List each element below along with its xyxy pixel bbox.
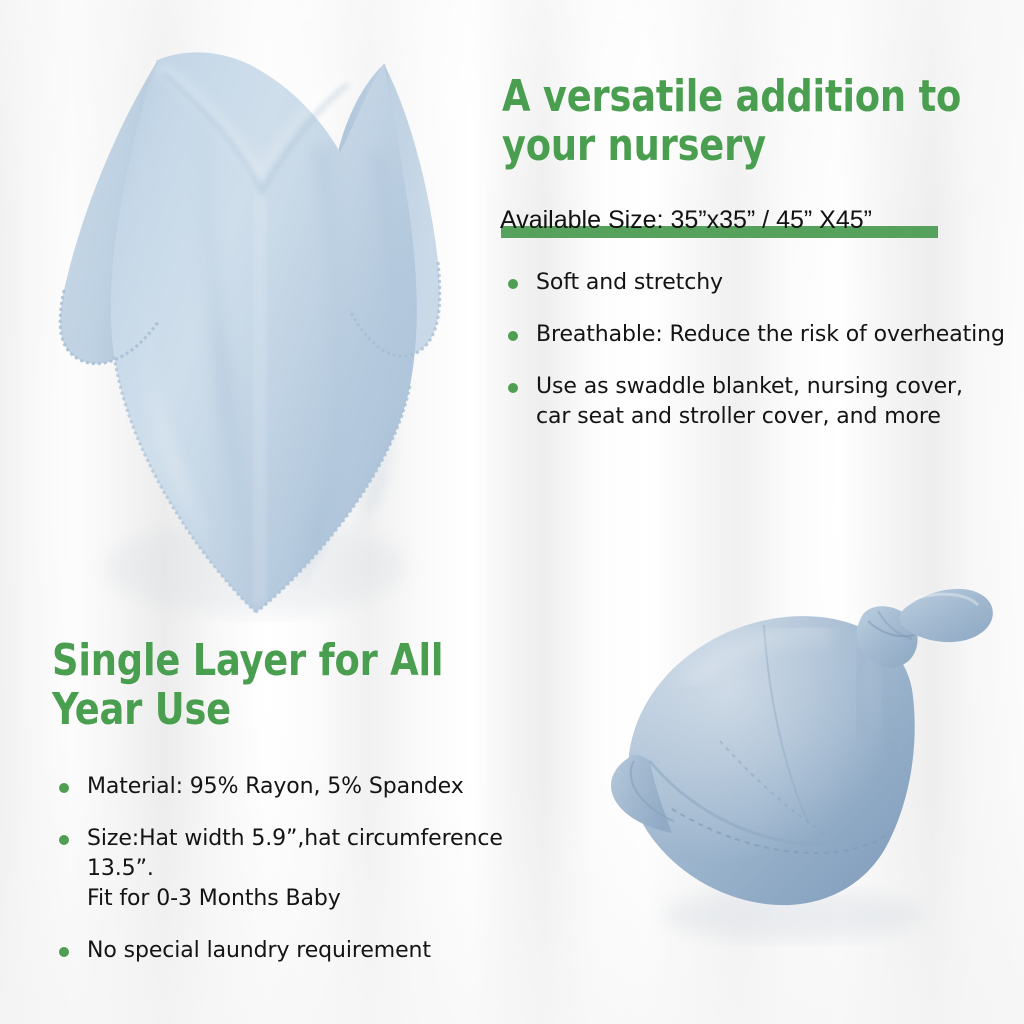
list-item-label: Size:Hat width 5.9”,hat circumference 13… (87, 824, 576, 914)
list-item-label: Breathable: Reduce the risk of overheati… (536, 320, 1017, 350)
available-size-line: Available Size: 35”x35” / 45” X45” (500, 203, 1000, 243)
list-item-label: Soft and stretchy (536, 268, 1017, 298)
list-item: Breathable: Reduce the risk of overheati… (505, 320, 1017, 350)
list-item: Use as swaddle blanket, nursing cover, c… (505, 372, 1017, 432)
bullet-dot-icon (59, 783, 69, 793)
top-feature-list: Soft and stretchy Breathable: Reduce the… (505, 268, 1017, 432)
list-item: Material: 95% Rayon, 5% Spandex (56, 772, 576, 802)
bullet-dot-icon (508, 383, 518, 393)
bullet-dot-icon (59, 947, 69, 957)
available-size-text: Available Size: 35”x35” / 45” X45” (500, 203, 872, 237)
product-feature-graphic: A versatile addition to your nursery Ava… (0, 0, 1024, 1024)
list-item: Soft and stretchy (505, 268, 1017, 298)
blanket-product-image (18, 22, 478, 622)
list-item-label: Use as swaddle blanket, nursing cover, c… (536, 372, 1017, 432)
hat-product-image (568, 565, 1008, 965)
bullet-dot-icon (508, 331, 518, 341)
bottom-headline: Single Layer for All Year Use (52, 636, 489, 735)
list-item: Size:Hat width 5.9”,hat circumference 13… (56, 824, 576, 914)
bullet-dot-icon (508, 279, 518, 289)
list-item-label: Material: 95% Rayon, 5% Spandex (87, 772, 576, 802)
bottom-feature-list: Material: 95% Rayon, 5% Spandex Size:Hat… (56, 772, 576, 966)
list-item-label: No special laundry requirement (87, 936, 576, 966)
list-item: No special laundry requirement (56, 936, 576, 966)
bullet-dot-icon (59, 835, 69, 845)
top-headline: A versatile addition to your nursery (502, 72, 986, 171)
